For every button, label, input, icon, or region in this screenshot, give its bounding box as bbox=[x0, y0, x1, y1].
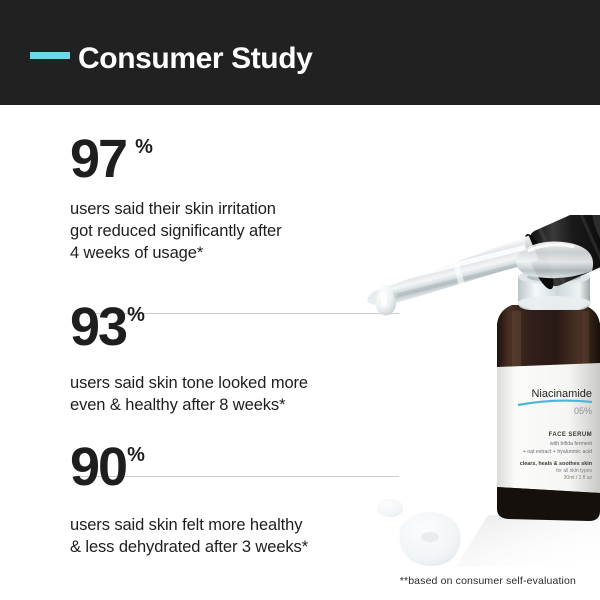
consumer-study-infographic: Consumer Study 97 % users said their ski… bbox=[0, 0, 600, 600]
label-claim: clears, heals & soothes skin bbox=[520, 461, 592, 467]
stat-percent-symbol: % bbox=[127, 304, 145, 326]
label-volume: 30ml / 1 fl oz bbox=[564, 475, 593, 481]
label-detail-1: with bifida ferment bbox=[550, 441, 593, 447]
label-type: FACE SERUM bbox=[549, 432, 592, 438]
serum-drop-highlight bbox=[381, 295, 387, 307]
stat-percent-symbol: % bbox=[135, 136, 153, 158]
label-concentration: 05% bbox=[574, 406, 592, 416]
accent-bar bbox=[30, 52, 70, 59]
stat-number: 93 bbox=[70, 302, 126, 352]
serum-puddle-small bbox=[377, 499, 403, 517]
stat-block: 93 % users said skin tone looked more ev… bbox=[70, 302, 400, 416]
stat-description: users said their skin irritation got red… bbox=[70, 198, 400, 264]
stat-description: users said skin felt more healthy & less… bbox=[70, 514, 400, 558]
stat-block: 97 % users said their skin irritation go… bbox=[70, 134, 400, 264]
bottle-base bbox=[497, 487, 600, 521]
stat-number: 97 bbox=[70, 134, 126, 184]
stat-percent-symbol: % bbox=[127, 444, 145, 466]
label-skin-types: for all skin types bbox=[556, 468, 592, 474]
stat-block: 90 % users said skin felt more healthy &… bbox=[70, 442, 400, 558]
stat-number-row: 90 % bbox=[70, 442, 400, 492]
label-ingredient: Niacinamide bbox=[531, 388, 592, 400]
stat-description: users said skin tone looked more even & … bbox=[70, 372, 400, 416]
label-detail-2: + oat extract + hyaluronic acid bbox=[523, 449, 592, 455]
stat-number-row: 97 % bbox=[70, 134, 400, 184]
page-title: Consumer Study bbox=[78, 40, 312, 78]
neck-ring bbox=[517, 296, 591, 310]
stat-number: 90 bbox=[70, 442, 126, 492]
header-bar: Consumer Study bbox=[0, 0, 600, 105]
bottle-shadow bbox=[456, 515, 600, 567]
stat-number-row: 93 % bbox=[70, 302, 400, 352]
serum-puddle-highlight bbox=[421, 532, 439, 542]
footnote: **based on consumer self-evaluation bbox=[400, 575, 576, 587]
product-image: Niacinamide 05% FACE SERUM with bifida f… bbox=[360, 215, 600, 575]
